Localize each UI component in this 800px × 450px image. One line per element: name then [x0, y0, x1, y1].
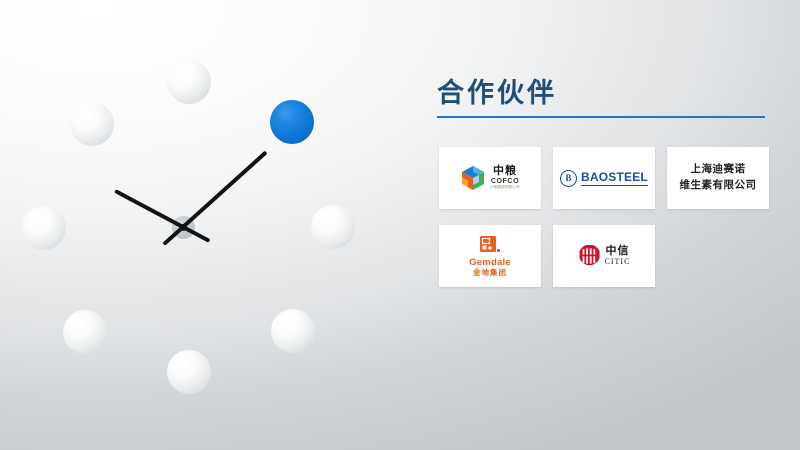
marker-ball: [22, 206, 66, 250]
disano-wordmark: 上海迪赛诺 维生素有限公司: [680, 162, 757, 194]
citic-logo: 中信 CITIC: [578, 245, 631, 268]
slide-canvas: 合作伙伴: [0, 0, 800, 450]
citic-name-cn: 中信: [605, 246, 629, 258]
gemdale-logo: Gemdale 金地集团: [469, 236, 511, 277]
page-title: 合作伙伴: [430, 80, 780, 107]
disano-line-1: 上海迪赛诺: [680, 162, 757, 178]
cofco-tagline: 中粮集团有限公司: [490, 186, 520, 190]
citic-name-en: CITIC: [605, 258, 631, 266]
gemdale-name-cn: 金地集团: [473, 269, 507, 277]
marker-ball: [167, 60, 211, 104]
partner-logo-grid: 中粮 COFCO 中粮集团有限公司 B BAOSTEEL 上海迪赛诺 维生素有限…: [439, 147, 779, 287]
partner-card-disano[interactable]: 上海迪赛诺 维生素有限公司: [667, 147, 769, 209]
cofco-cube-icon: [460, 165, 486, 191]
partner-card-cofco[interactable]: 中粮 COFCO 中粮集团有限公司: [439, 147, 541, 209]
marker-ball: [167, 350, 211, 394]
baosteel-name-en: BAOSTEEL: [581, 170, 648, 186]
cofco-name-cn: 中粮: [493, 166, 517, 178]
title-underline: [437, 116, 765, 118]
clock-marker-10: [70, 102, 114, 146]
cofco-wordmark: 中粮 COFCO 中粮集团有限公司: [490, 166, 520, 189]
citic-wordmark: 中信 CITIC: [605, 246, 631, 266]
clock-marker-3: [311, 205, 355, 249]
baosteel-circle-icon: B: [560, 170, 577, 187]
marker-ball: [63, 310, 107, 354]
clock-marker-4: [271, 309, 315, 353]
marker-ball: [70, 102, 114, 146]
disano-line-2: 维生素有限公司: [680, 178, 757, 194]
clock-marker-12: [167, 60, 211, 104]
marker-ball: [270, 100, 314, 144]
clock-marker-1-highlight: [270, 100, 314, 144]
clock-marker-6: [167, 350, 211, 394]
gemdale-name-en: Gemdale: [469, 258, 511, 268]
baosteel-logo: B BAOSTEEL: [560, 170, 648, 187]
marker-ball: [311, 205, 355, 249]
citic-shield-icon: [578, 245, 601, 268]
wall-clock-illustration: [0, 0, 420, 450]
gemdale-square-icon: [480, 236, 500, 256]
marker-ball: [271, 309, 315, 353]
clock-marker-9: [22, 206, 66, 250]
partner-card-baosteel[interactable]: B BAOSTEEL: [553, 147, 655, 209]
partner-card-citic[interactable]: 中信 CITIC: [553, 225, 655, 287]
cofco-logo: 中粮 COFCO 中粮集团有限公司: [460, 165, 520, 191]
partner-card-gemdale[interactable]: Gemdale 金地集团: [439, 225, 541, 287]
partners-panel: 合作伙伴: [430, 80, 780, 287]
clock-marker-7: [63, 310, 107, 354]
